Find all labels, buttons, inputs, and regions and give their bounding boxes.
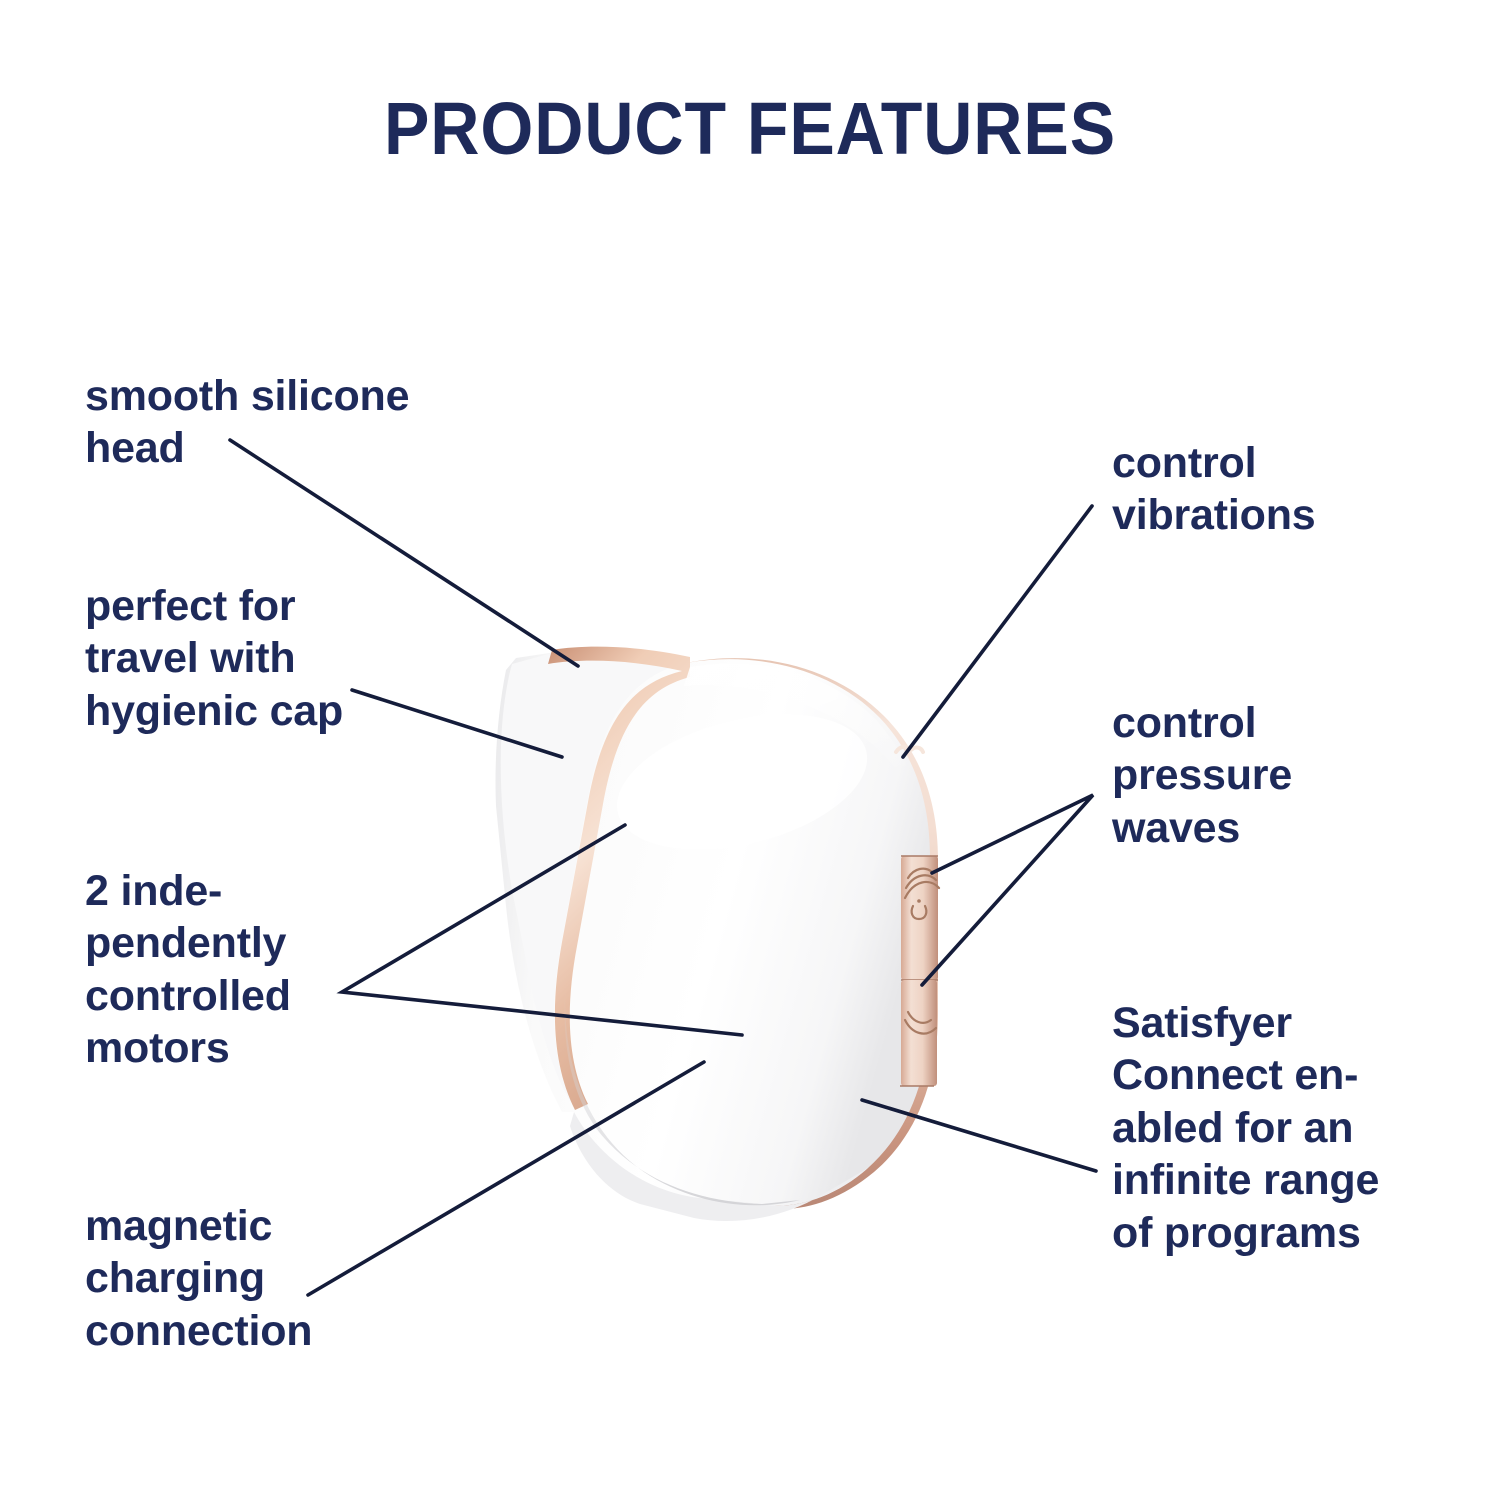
callout-two-motors: 2 inde- pendently controlled motors bbox=[85, 865, 291, 1075]
line-control-vibrations bbox=[903, 506, 1092, 757]
callout-control-vibrations: control vibrations bbox=[1112, 437, 1316, 542]
line-control-pressure-waves bbox=[922, 795, 1093, 985]
callout-hygienic-cap: perfect for travel with hygienic cap bbox=[85, 580, 343, 737]
line-two-motors bbox=[342, 825, 742, 1035]
callout-satisfyer-connect: Satisfyer Connect en- abled for an infin… bbox=[1112, 997, 1379, 1259]
page-title: PRODUCT FEATURES bbox=[60, 92, 1440, 166]
line-hygienic-cap bbox=[352, 690, 562, 757]
callout-magnetic-charging: magnetic charging connection bbox=[85, 1200, 312, 1357]
product-features-infographic: PRODUCT FEATURES bbox=[0, 0, 1500, 1500]
callout-control-pressure-waves: control pressure waves bbox=[1112, 697, 1292, 854]
line-magnetic-charging bbox=[308, 1062, 704, 1295]
callout-smooth-silicone-head: smooth silicone head bbox=[85, 370, 409, 475]
line-satisfyer-connect bbox=[862, 1100, 1096, 1171]
